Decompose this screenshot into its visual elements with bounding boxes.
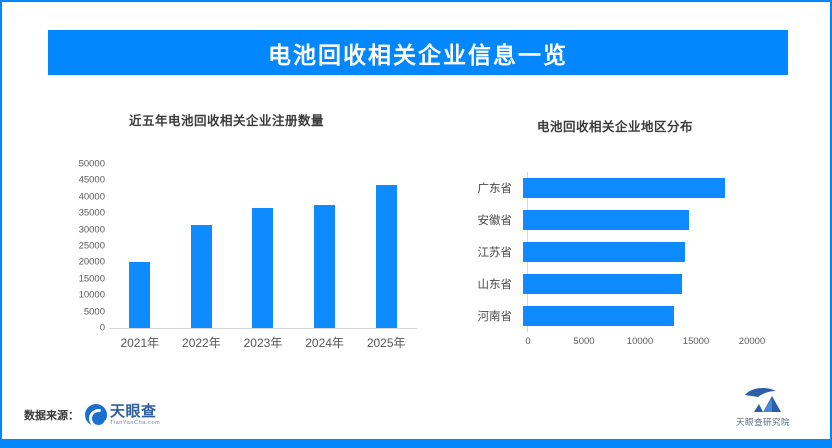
left-chart-x-axis: 2021年2022年2023年2024年2025年 [109, 334, 417, 351]
tianyancha-logo: 天眼查 TianYanCha.com [85, 404, 160, 427]
bar-row: 广东省 [442, 175, 812, 201]
bar [523, 306, 674, 326]
tianyancha-wordmark: 天眼查 TianYanCha.com [110, 404, 160, 427]
x-axis-tick: 2024年 [297, 334, 353, 351]
left-chart-bars [109, 164, 417, 328]
right-chart-bars: 广东省安徽省江苏省山东省河南省 [442, 172, 812, 332]
category-label: 河南省 [442, 308, 522, 324]
x-axis-tick: 5000 [573, 336, 594, 347]
bar-row: 安徽省 [442, 207, 812, 233]
bar [191, 225, 212, 328]
y-axis-tick: 25000 [57, 241, 105, 252]
y-axis-tick: 15000 [57, 273, 105, 284]
tianyancha-logo-en: TianYanCha.com [110, 421, 160, 427]
x-axis-tick: 15000 [683, 336, 709, 347]
left-chart-title: 近五年电池回收相关企业注册数量 [129, 110, 324, 129]
tianyancha-eye-icon [85, 404, 107, 426]
x-axis-tick: 2023年 [235, 334, 291, 351]
left-chart-x-axis-line [109, 328, 417, 329]
page-title: 电池回收相关企业信息一览 [268, 36, 568, 70]
left-chart-y-axis: 5000045000400003500030000250002000015000… [57, 164, 105, 328]
bar [376, 185, 397, 328]
y-axis-tick: 5000 [57, 306, 105, 317]
y-axis-tick: 40000 [57, 191, 105, 202]
bar [523, 274, 682, 294]
y-axis-tick: 30000 [57, 224, 105, 235]
y-axis-tick: 45000 [57, 175, 105, 186]
bar [523, 178, 725, 198]
bar [523, 210, 689, 230]
data-source: 数据来源： 天眼查 TianYanCha.com [24, 404, 160, 427]
bar [523, 242, 685, 262]
right-chart-title: 电池回收相关企业地区分布 [537, 116, 693, 135]
data-source-label: 数据来源： [24, 407, 79, 423]
x-axis-tick: 2022年 [173, 334, 229, 351]
bar-row: 山东省 [442, 271, 812, 297]
tianyancha-logo-cn: 天眼查 [110, 404, 160, 419]
research-institute-icon [743, 386, 783, 414]
y-axis-tick: 35000 [57, 208, 105, 219]
x-axis-tick: 0 [525, 336, 530, 347]
bar [314, 205, 335, 328]
bar [129, 262, 150, 328]
y-axis-tick: 0 [57, 323, 105, 334]
region-distribution-chart: 电池回收相关企业地区分布 广东省安徽省江苏省山东省河南省 05000100001… [442, 102, 812, 367]
bar-row: 河南省 [442, 303, 812, 329]
category-label: 广东省 [442, 180, 522, 196]
research-institute-name: 天眼查研究院 [736, 416, 790, 428]
x-axis-tick: 2021年 [112, 334, 168, 351]
y-axis-tick: 10000 [57, 290, 105, 301]
x-axis-tick: 10000 [627, 336, 653, 347]
registration-count-chart: 近五年电池回收相关企业注册数量 500004500040000350003000… [57, 102, 427, 367]
left-chart-plot: 5000045000400003500030000250002000015000… [57, 164, 427, 334]
x-axis-tick: 2025年 [358, 334, 414, 351]
right-chart-plot: 广东省安徽省江苏省山东省河南省 05000100001500020000 [442, 172, 812, 347]
category-label: 山东省 [442, 276, 522, 292]
y-axis-tick: 50000 [57, 159, 105, 170]
category-label: 安徽省 [442, 212, 522, 228]
right-chart-x-axis: 05000100001500020000 [528, 336, 752, 350]
bottom-accent-bar [2, 439, 832, 448]
y-axis-tick: 20000 [57, 257, 105, 268]
page-title-banner: 电池回收相关企业信息一览 [48, 30, 788, 75]
x-axis-tick: 20000 [739, 336, 765, 347]
bar-row: 江苏省 [442, 239, 812, 265]
research-institute-brand: 天眼查研究院 [736, 386, 790, 428]
category-label: 江苏省 [442, 244, 522, 260]
bar [252, 208, 273, 328]
infographic-page: 电池回收相关企业信息一览 近五年电池回收相关企业注册数量 50000450004… [0, 0, 832, 448]
